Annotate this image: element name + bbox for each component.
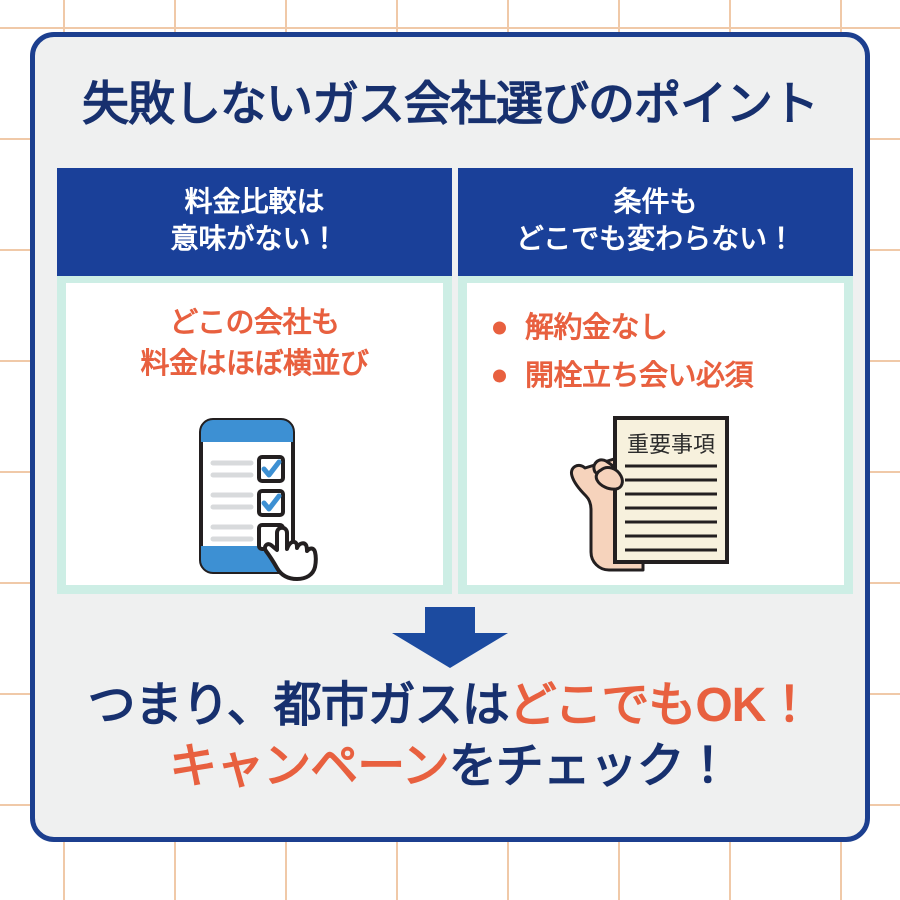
table-column-pricing: 料金比較は 意味がない！ どこの会社も 料金はほぼ横並び: [57, 168, 452, 594]
bullet-dot-icon: [493, 321, 506, 334]
cell-heading-pricing: どこの会社も 料金はほぼ横並び: [66, 283, 443, 384]
column-header-line: 条件も: [462, 184, 849, 221]
conditions-bullet-list: 解約金なし 開栓立ち会い必須: [467, 283, 844, 397]
cell-heading-line: 料金はほぼ横並び: [66, 344, 443, 385]
conclusion-block: つまり、都市ガスはどこでもOK！ キャンペーンをチェック！: [35, 675, 865, 798]
cell-heading-line: どこの会社も: [66, 303, 443, 344]
list-item-label: 開栓立ち会い必須: [525, 360, 753, 392]
conclusion-line-2: キャンペーンをチェック！: [35, 736, 865, 797]
column-header-line: どこでも変わらない！: [462, 221, 849, 258]
conclusion-line-1: つまり、都市ガスはどこでもOK！: [35, 675, 865, 736]
table-column-conditions: 条件も どこでも変わらない！ 解約金なし 開栓立ち会い必須: [458, 168, 853, 594]
list-item: 開栓立ち会い必須: [489, 355, 844, 397]
column-header-conditions: 条件も どこでも変わらない！: [458, 168, 853, 276]
column-header-line: 料金比較は: [61, 184, 448, 221]
comparison-table: 料金比較は 意味がない！ どこの会社も 料金はほぼ横並び: [57, 168, 853, 594]
column-header-pricing: 料金比較は 意味がない！: [57, 168, 452, 276]
conclusion-line-1-orange: どこでもOK！: [509, 679, 813, 732]
column-header-line: 意味がない！: [61, 221, 448, 258]
conclusion-line-1-navy: つまり、都市ガスは: [88, 679, 509, 732]
conclusion-line-2-orange: キャンペーン: [169, 740, 449, 793]
list-item: 解約金なし: [489, 307, 844, 349]
infographic-card: 失敗しないガス会社選びのポイント 料金比較は 意味がない！ どこの会社も 料金は…: [30, 32, 870, 842]
conclusion-line-2-navy: をチェック！: [449, 740, 731, 793]
hand-holding-document-icon: 重要事項: [467, 406, 844, 581]
document-title-text: 重要事項: [626, 432, 714, 457]
column-body-pricing: どこの会社も 料金はほぼ横並び: [57, 276, 452, 594]
smartphone-checklist-hand-icon: [66, 415, 443, 581]
arrow-down-icon: [391, 607, 509, 669]
page-title: 失敗しないガス会社選びのポイント: [35, 65, 865, 134]
bullet-dot-icon: [493, 369, 506, 382]
list-item-label: 解約金なし: [525, 312, 668, 344]
column-body-conditions: 解約金なし 開栓立ち会い必須 重要事項: [458, 276, 853, 594]
